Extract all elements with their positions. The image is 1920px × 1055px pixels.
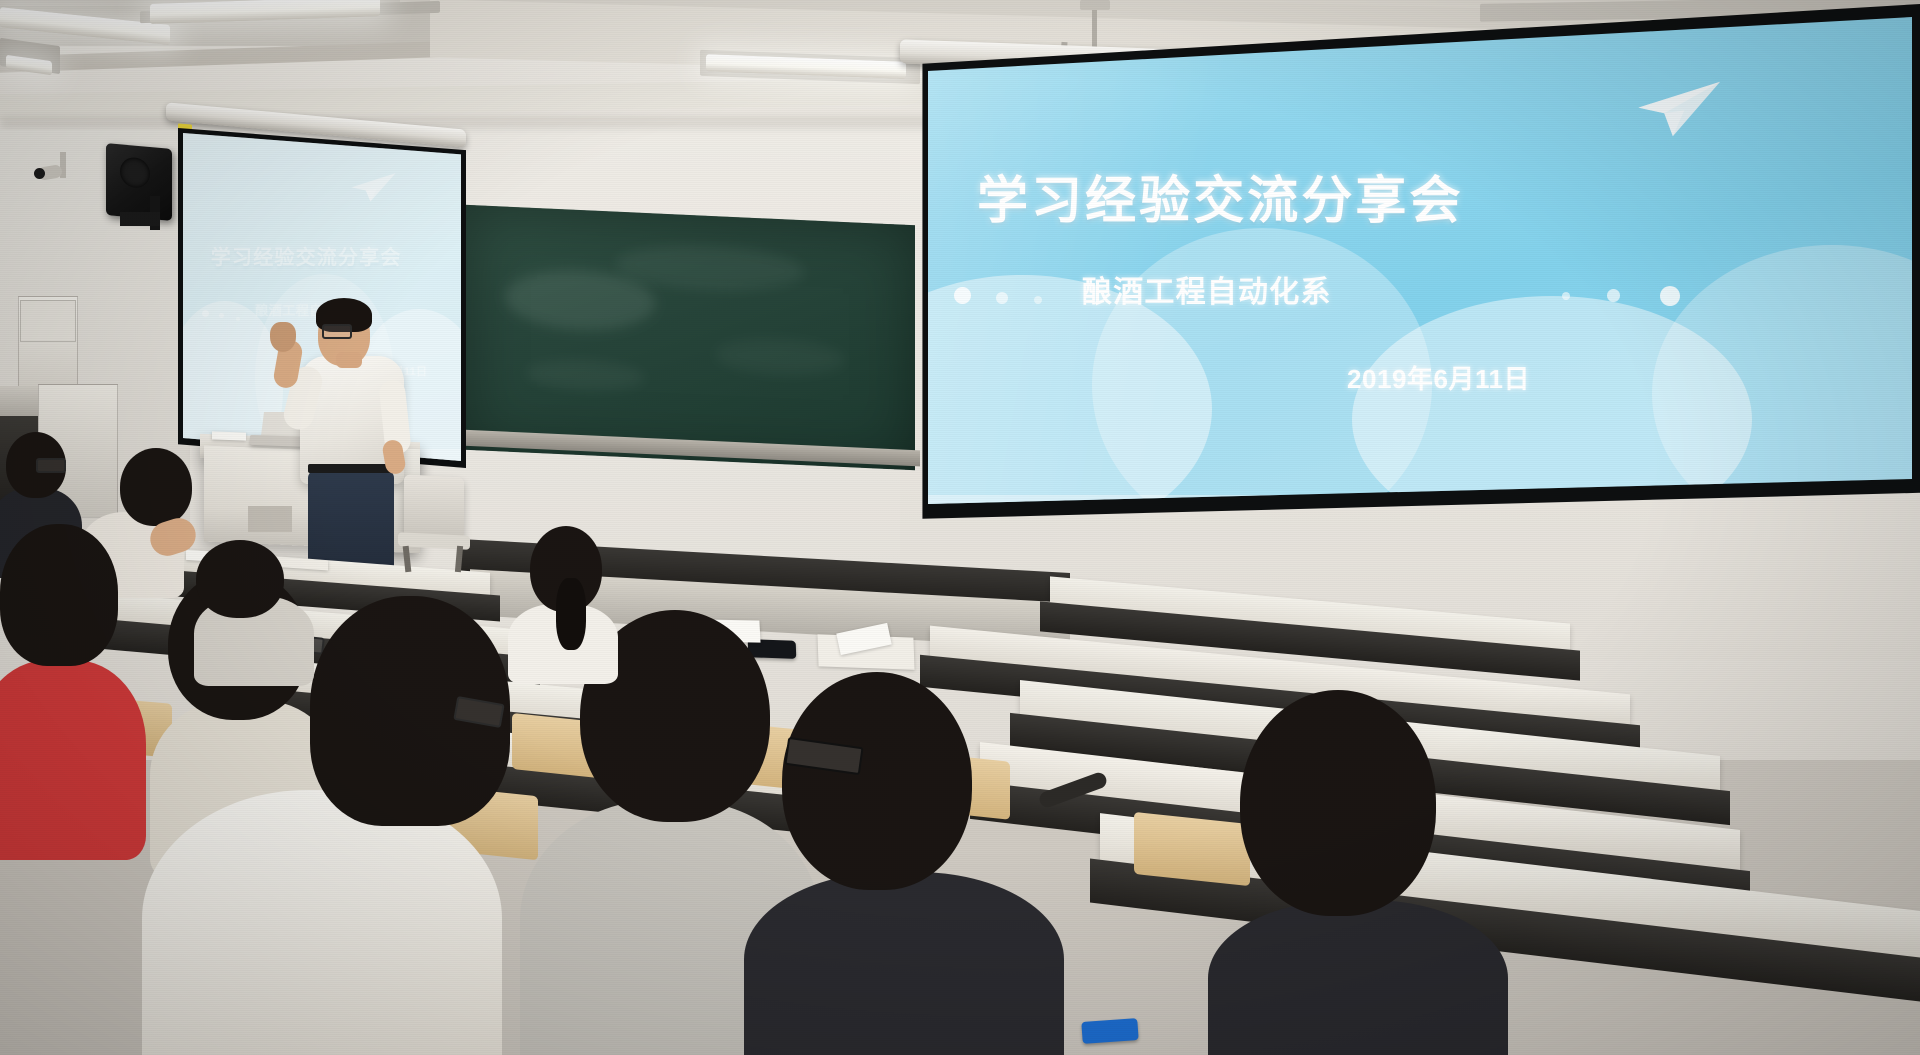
paper-sheet — [212, 431, 246, 440]
presenter-belt — [308, 464, 392, 473]
main-screen-face: 学习经验交流分享会 酿酒工程自动化系 2019年6月11日 — [912, 14, 1912, 514]
student-head — [120, 448, 192, 526]
student-shirt — [1208, 900, 1508, 1055]
student-head — [196, 540, 284, 618]
smartphone[interactable] — [1081, 1018, 1138, 1044]
glasses-icon — [322, 324, 352, 339]
student-shirt — [0, 660, 146, 860]
presenter-neck — [336, 352, 362, 368]
glasses-icon — [36, 458, 66, 473]
ceiling-mount — [1080, 0, 1110, 10]
presenter-hand — [270, 322, 296, 352]
chalkboard — [465, 205, 915, 470]
student-shirt — [744, 872, 1064, 1055]
classroom-photo: 学习经验交流分享会 酿酒工程自动化系 2019年6月11日 — [0, 0, 1920, 1055]
camera-lens-icon — [34, 168, 45, 179]
folding-chair-back[interactable] — [404, 474, 464, 539]
student-head — [0, 524, 118, 666]
student-head — [1240, 690, 1436, 916]
wooden-seat[interactable] — [1134, 812, 1250, 886]
student-shirt — [142, 790, 502, 1055]
speaker-cone-icon — [120, 156, 150, 189]
podium-panel — [248, 506, 292, 532]
student-head — [782, 672, 972, 890]
wall-speaker — [106, 143, 172, 221]
ponytail — [556, 578, 586, 650]
speaker-mount — [120, 212, 160, 226]
cabinet-door[interactable] — [20, 300, 76, 342]
